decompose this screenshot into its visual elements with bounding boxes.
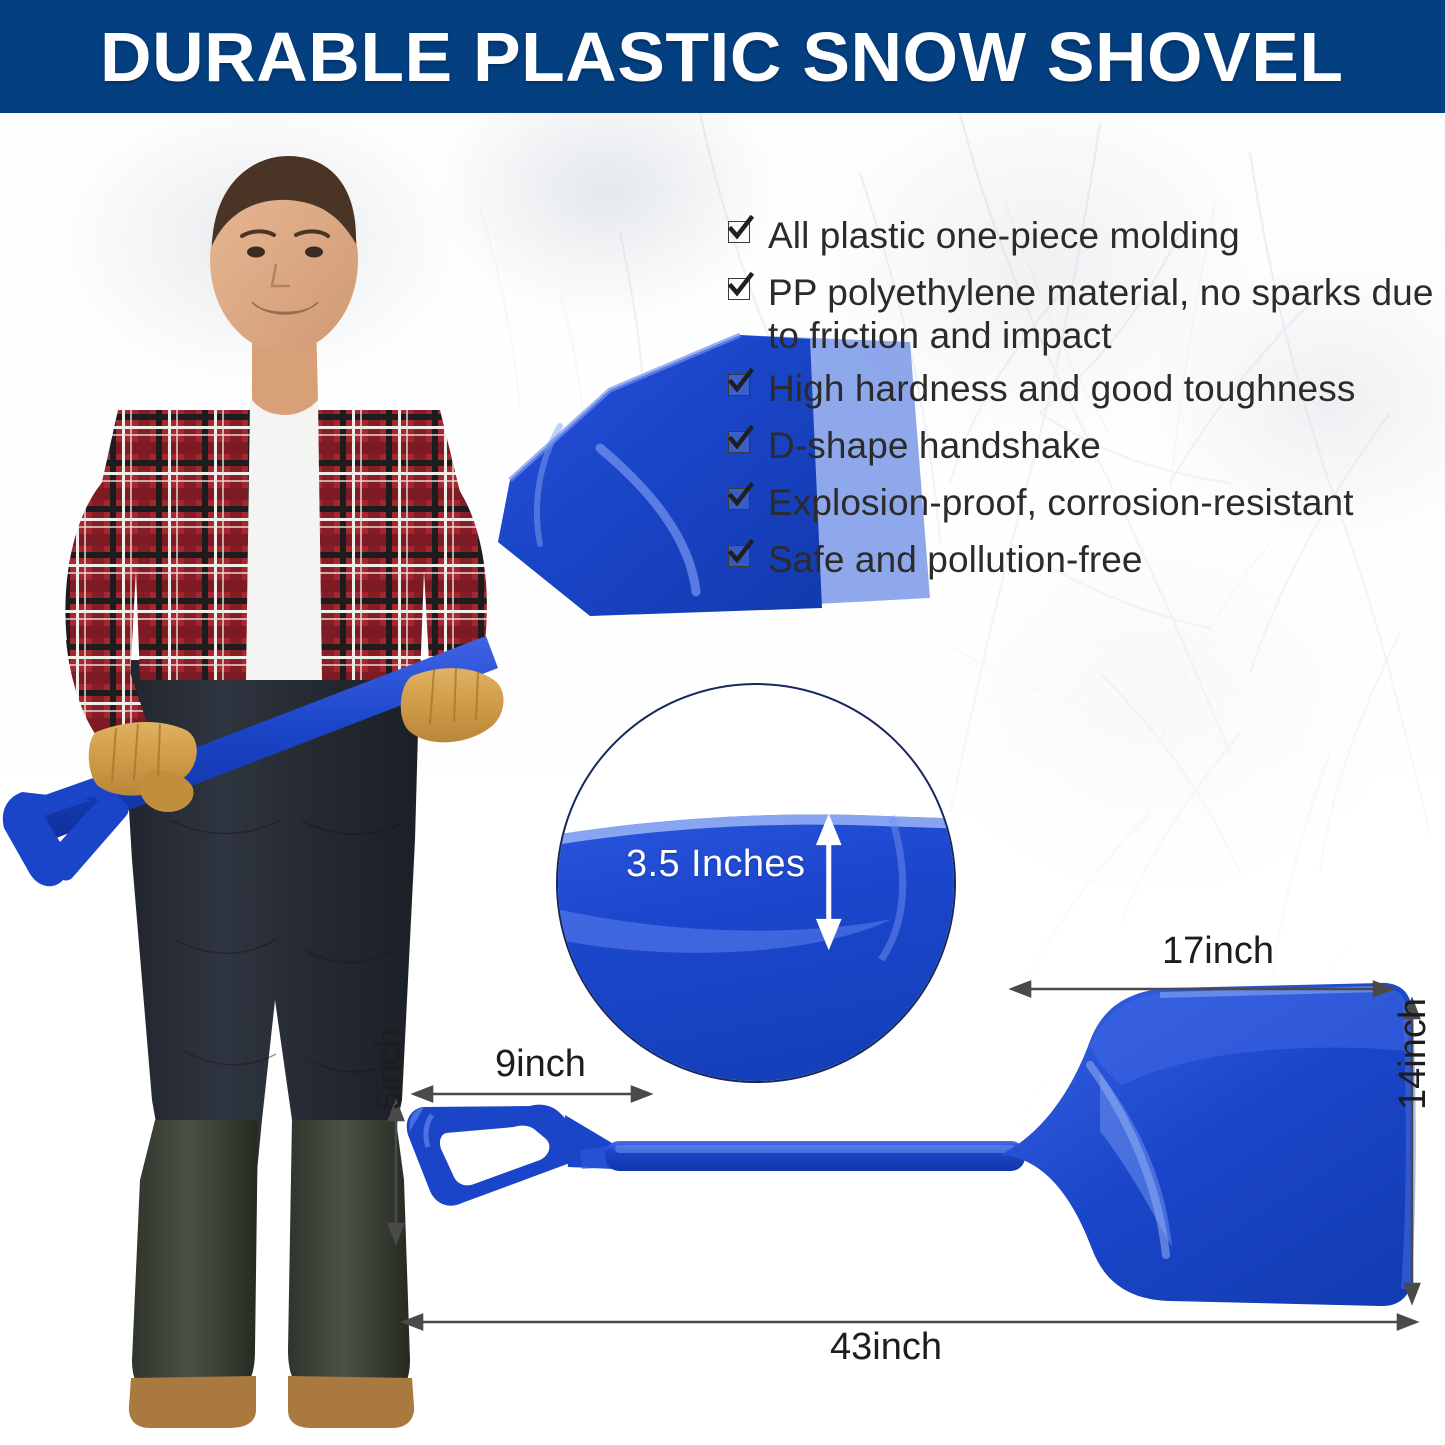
feature-label: PP polyethylene material, no sparks due … [768,271,1440,357]
dimension-handle-width: 9inch [495,1043,586,1086]
checkbox-checked-icon [728,431,752,455]
dimension-total-length: 43inch [830,1326,942,1369]
feature-label: All plastic one-piece molding [768,214,1240,257]
list-item: Explosion-proof, corrosion-resistant [728,481,1440,524]
product-infographic: DURABLE PLASTIC SNOW SHOVEL [0,0,1445,1445]
feature-label: Safe and pollution-free [768,538,1143,581]
checkbox-checked-icon [728,545,752,569]
checkbox-checked-icon [728,374,752,398]
list-item: D-shape handshake [728,424,1440,467]
dimension-blade-width: 17inch [1162,930,1274,973]
feature-label: High hardness and good toughness [768,367,1355,410]
feature-list: All plastic one-piece molding PP polyeth… [728,214,1440,595]
feature-label: D-shape handshake [768,424,1101,467]
magnifier-label: 3.5 Inches [626,843,805,886]
checkbox-checked-icon [728,488,752,512]
list-item: All plastic one-piece molding [728,214,1440,257]
dimension-handle-height: 5inch [370,1029,409,1110]
list-item: Safe and pollution-free [728,538,1440,581]
list-item: High hardness and good toughness [728,367,1440,410]
list-item: PP polyethylene material, no sparks due … [728,271,1440,357]
feature-label: Explosion-proof, corrosion-resistant [768,481,1354,524]
checkbox-checked-icon [728,278,752,302]
checkbox-checked-icon [728,221,752,245]
page-title: DURABLE PLASTIC SNOW SHOVEL [100,17,1343,97]
dimension-blade-height: 14inch [1392,998,1435,1110]
header-banner: DURABLE PLASTIC SNOW SHOVEL [0,0,1445,113]
magnifier-callout: 3.5 Inches [556,683,956,1083]
